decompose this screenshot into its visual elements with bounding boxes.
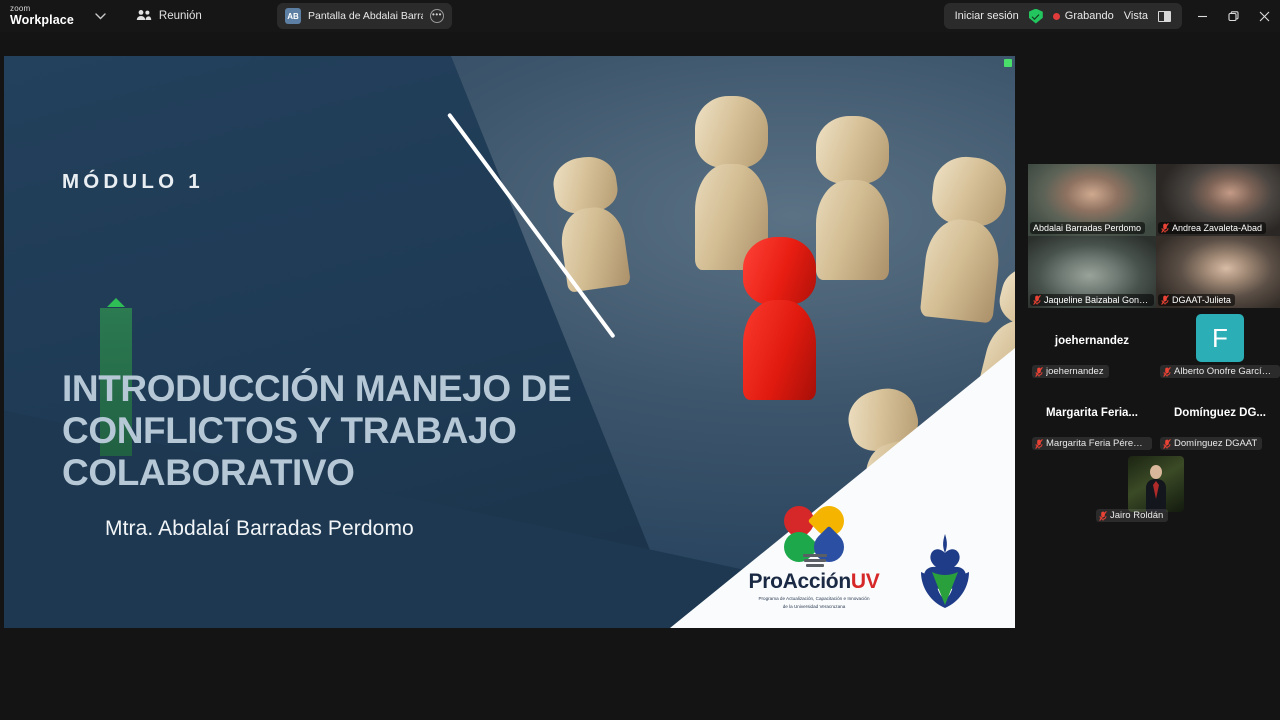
status-cluster: Iniciar sesión Grabando Vista [944, 3, 1182, 29]
participant-name: joehernandez [1046, 366, 1104, 377]
proaccion-subtitle-2: de la Universidad Veracruzana [743, 604, 885, 610]
minimize-icon[interactable] [1187, 0, 1218, 32]
participant-tile[interactable]: F Alberto Onofre García Cuel... [1156, 310, 1280, 382]
mic-muted-icon [1033, 295, 1041, 305]
participant-tile[interactable]: Jairo Roldán [1092, 454, 1220, 526]
mic-muted-icon [1099, 511, 1107, 521]
avatar-row: Jairo Roldán [1028, 454, 1280, 526]
proaccion-uv-suffix: UV [851, 570, 880, 593]
recording-status[interactable]: Grabando [1065, 10, 1114, 22]
tab-label: Pantalla de Abdalai Barradas Perd [308, 10, 423, 22]
participant-name-badge: Andrea Zavaleta-Abad [1158, 222, 1266, 234]
slide-author: Mtra. Abdalaí Barradas Perdomo [105, 517, 414, 541]
participant-name: Jaqueline Baizabal González [1044, 295, 1150, 305]
avatar-row: Margarita Feria... Margarita Feria Pérez… [1028, 382, 1280, 454]
lightbulb-icon [772, 506, 856, 568]
people-icon [136, 9, 152, 24]
participant-display-name: Margarita Feria... [1028, 407, 1156, 419]
shield-check-icon[interactable] [1029, 9, 1043, 24]
participant-name: Jairo Roldán [1110, 510, 1163, 521]
mic-muted-icon [1163, 439, 1171, 449]
more-options-icon[interactable]: ••• [430, 9, 444, 23]
participant-name-badge: Margarita Feria Pérez_36948 [1032, 437, 1152, 450]
participant-name-badge: DGAAT-Julieta [1158, 294, 1235, 306]
participant-name: Andrea Zavaleta-Abad [1172, 223, 1262, 233]
avatar [1128, 456, 1184, 512]
avatar: F [1196, 314, 1244, 362]
restore-icon[interactable] [1218, 0, 1249, 32]
mic-muted-icon [1035, 367, 1043, 377]
recording-dot [1053, 13, 1060, 20]
window-controls [1187, 0, 1280, 32]
mic-muted-icon [1163, 367, 1171, 377]
video-tile[interactable]: DGAAT-Julieta [1156, 236, 1280, 308]
slide-module-label: MÓDULO 1 [62, 170, 204, 194]
participant-tile[interactable]: Margarita Feria... Margarita Feria Pérez… [1028, 382, 1156, 454]
participant-name-badge: joehernandez [1032, 365, 1109, 378]
shared-screen[interactable]: MÓDULO 1 INTRODUCCIÓN MANEJO DE CONFLICT… [4, 56, 1015, 628]
share-tab[interactable]: AB Pantalla de Abdalai Barradas Perd ••• [277, 3, 452, 29]
nav-item-meeting[interactable]: Reunión [136, 9, 202, 24]
wooden-figure [919, 153, 1008, 321]
participant-name: Abdalai Barradas Perdomo [1033, 223, 1141, 233]
participant-name-badge: Abdalai Barradas Perdomo [1030, 222, 1145, 234]
green-triangle-accent [107, 298, 125, 307]
green-sharing-indicator [1004, 59, 1012, 67]
nav-item-label: Reunión [159, 10, 202, 22]
proaccion-wordmark: ProAcciónUV [743, 570, 885, 594]
mic-muted-icon [1161, 295, 1169, 305]
video-tile-grid: Abdalai Barradas Perdomo Andrea Zavaleta… [1028, 164, 1280, 308]
participant-name: DGAAT-Julieta [1172, 295, 1231, 305]
zoom-logo: zoom Workplace [10, 5, 74, 27]
layout-view-icon[interactable] [1158, 11, 1171, 22]
tab-avatar: AB [285, 8, 301, 24]
brand-large: Workplace [10, 14, 74, 27]
chevron-down-icon[interactable] [88, 3, 114, 29]
red-wooden-figure [743, 237, 816, 398]
video-tile[interactable]: Jaqueline Baizabal González [1028, 236, 1156, 308]
proaccion-uv-logo: ProAcciónUV Programa de Actualización, C… [743, 506, 885, 610]
slide-title: INTRODUCCIÓN MANEJO DE CONFLICTOS Y TRAB… [62, 368, 702, 494]
avatar-row: joehernandez joehernandez F Alberto Onof… [1028, 310, 1280, 382]
avatar-tile-grid: joehernandez joehernandez F Alberto Onof… [1028, 310, 1280, 526]
close-icon[interactable] [1249, 0, 1280, 32]
participant-name: Margarita Feria Pérez_36948 [1046, 438, 1147, 449]
participant-tile[interactable]: joehernandez joehernandez [1028, 310, 1156, 382]
title-bar: zoom Workplace Reunión AB Pantalla de Ab… [0, 0, 1280, 32]
participant-display-name: joehernandez [1028, 335, 1156, 347]
proaccion-name: ProAcción [749, 570, 851, 593]
participant-display-name: Domínguez DG... [1156, 407, 1280, 419]
mic-muted-icon [1035, 439, 1043, 449]
proaccion-subtitle-1: Programa de Actualización, Capacitación … [743, 596, 885, 602]
participant-name-badge: Alberto Onofre García Cuel... [1160, 365, 1280, 378]
participants-panel: Abdalai Barradas Perdomo Andrea Zavaleta… [1024, 32, 1280, 720]
participant-tile[interactable]: Domínguez DG... Domínguez DGAAT [1156, 382, 1280, 454]
video-tile[interactable]: Andrea Zavaleta-Abad [1156, 164, 1280, 236]
video-tile[interactable]: Abdalai Barradas Perdomo [1028, 164, 1156, 236]
participant-name-badge: Domínguez DGAAT [1160, 437, 1262, 450]
presentation-slide: MÓDULO 1 INTRODUCCIÓN MANEJO DE CONFLICT… [4, 56, 1015, 628]
sign-in-button[interactable]: Iniciar sesión [955, 10, 1019, 22]
participant-name-badge: Jairo Roldán [1096, 509, 1168, 522]
mic-muted-icon [1161, 223, 1169, 233]
universidad-veracruzana-logo [907, 532, 983, 610]
participant-name: Alberto Onofre García Cuel... [1174, 366, 1275, 377]
view-button-label[interactable]: Vista [1124, 10, 1148, 22]
participant-name: Domínguez DGAAT [1174, 438, 1257, 449]
wooden-figure [816, 116, 889, 277]
participant-name-badge: Jaqueline Baizabal González [1030, 294, 1154, 306]
slide-logos: ProAcciónUV Programa de Actualización, C… [743, 506, 983, 610]
